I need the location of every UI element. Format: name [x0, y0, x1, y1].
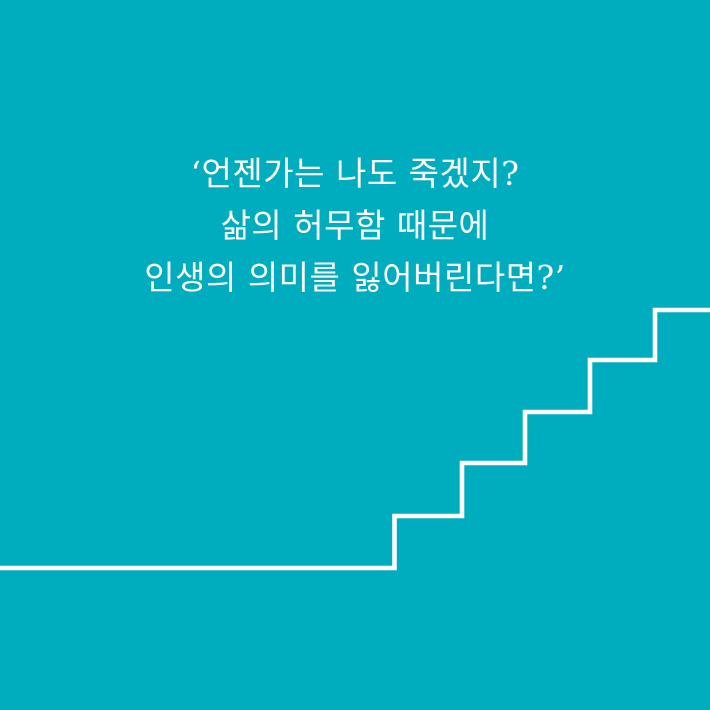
- teal-background: [0, 0, 710, 710]
- quote-line-1: ‘언젠가는 나도 죽겠지?: [0, 148, 710, 200]
- quote-text-block: ‘언젠가는 나도 죽겠지? 삶의 허무함 때문에 인생의 의미를 잃어버린다면?…: [0, 148, 710, 304]
- quote-card: ‘언젠가는 나도 죽겠지? 삶의 허무함 때문에 인생의 의미를 잃어버린다면?…: [0, 0, 710, 710]
- quote-line-3: 인생의 의미를 잃어버린다면?’: [0, 252, 710, 304]
- quote-line-2: 삶의 허무함 때문에: [0, 200, 710, 252]
